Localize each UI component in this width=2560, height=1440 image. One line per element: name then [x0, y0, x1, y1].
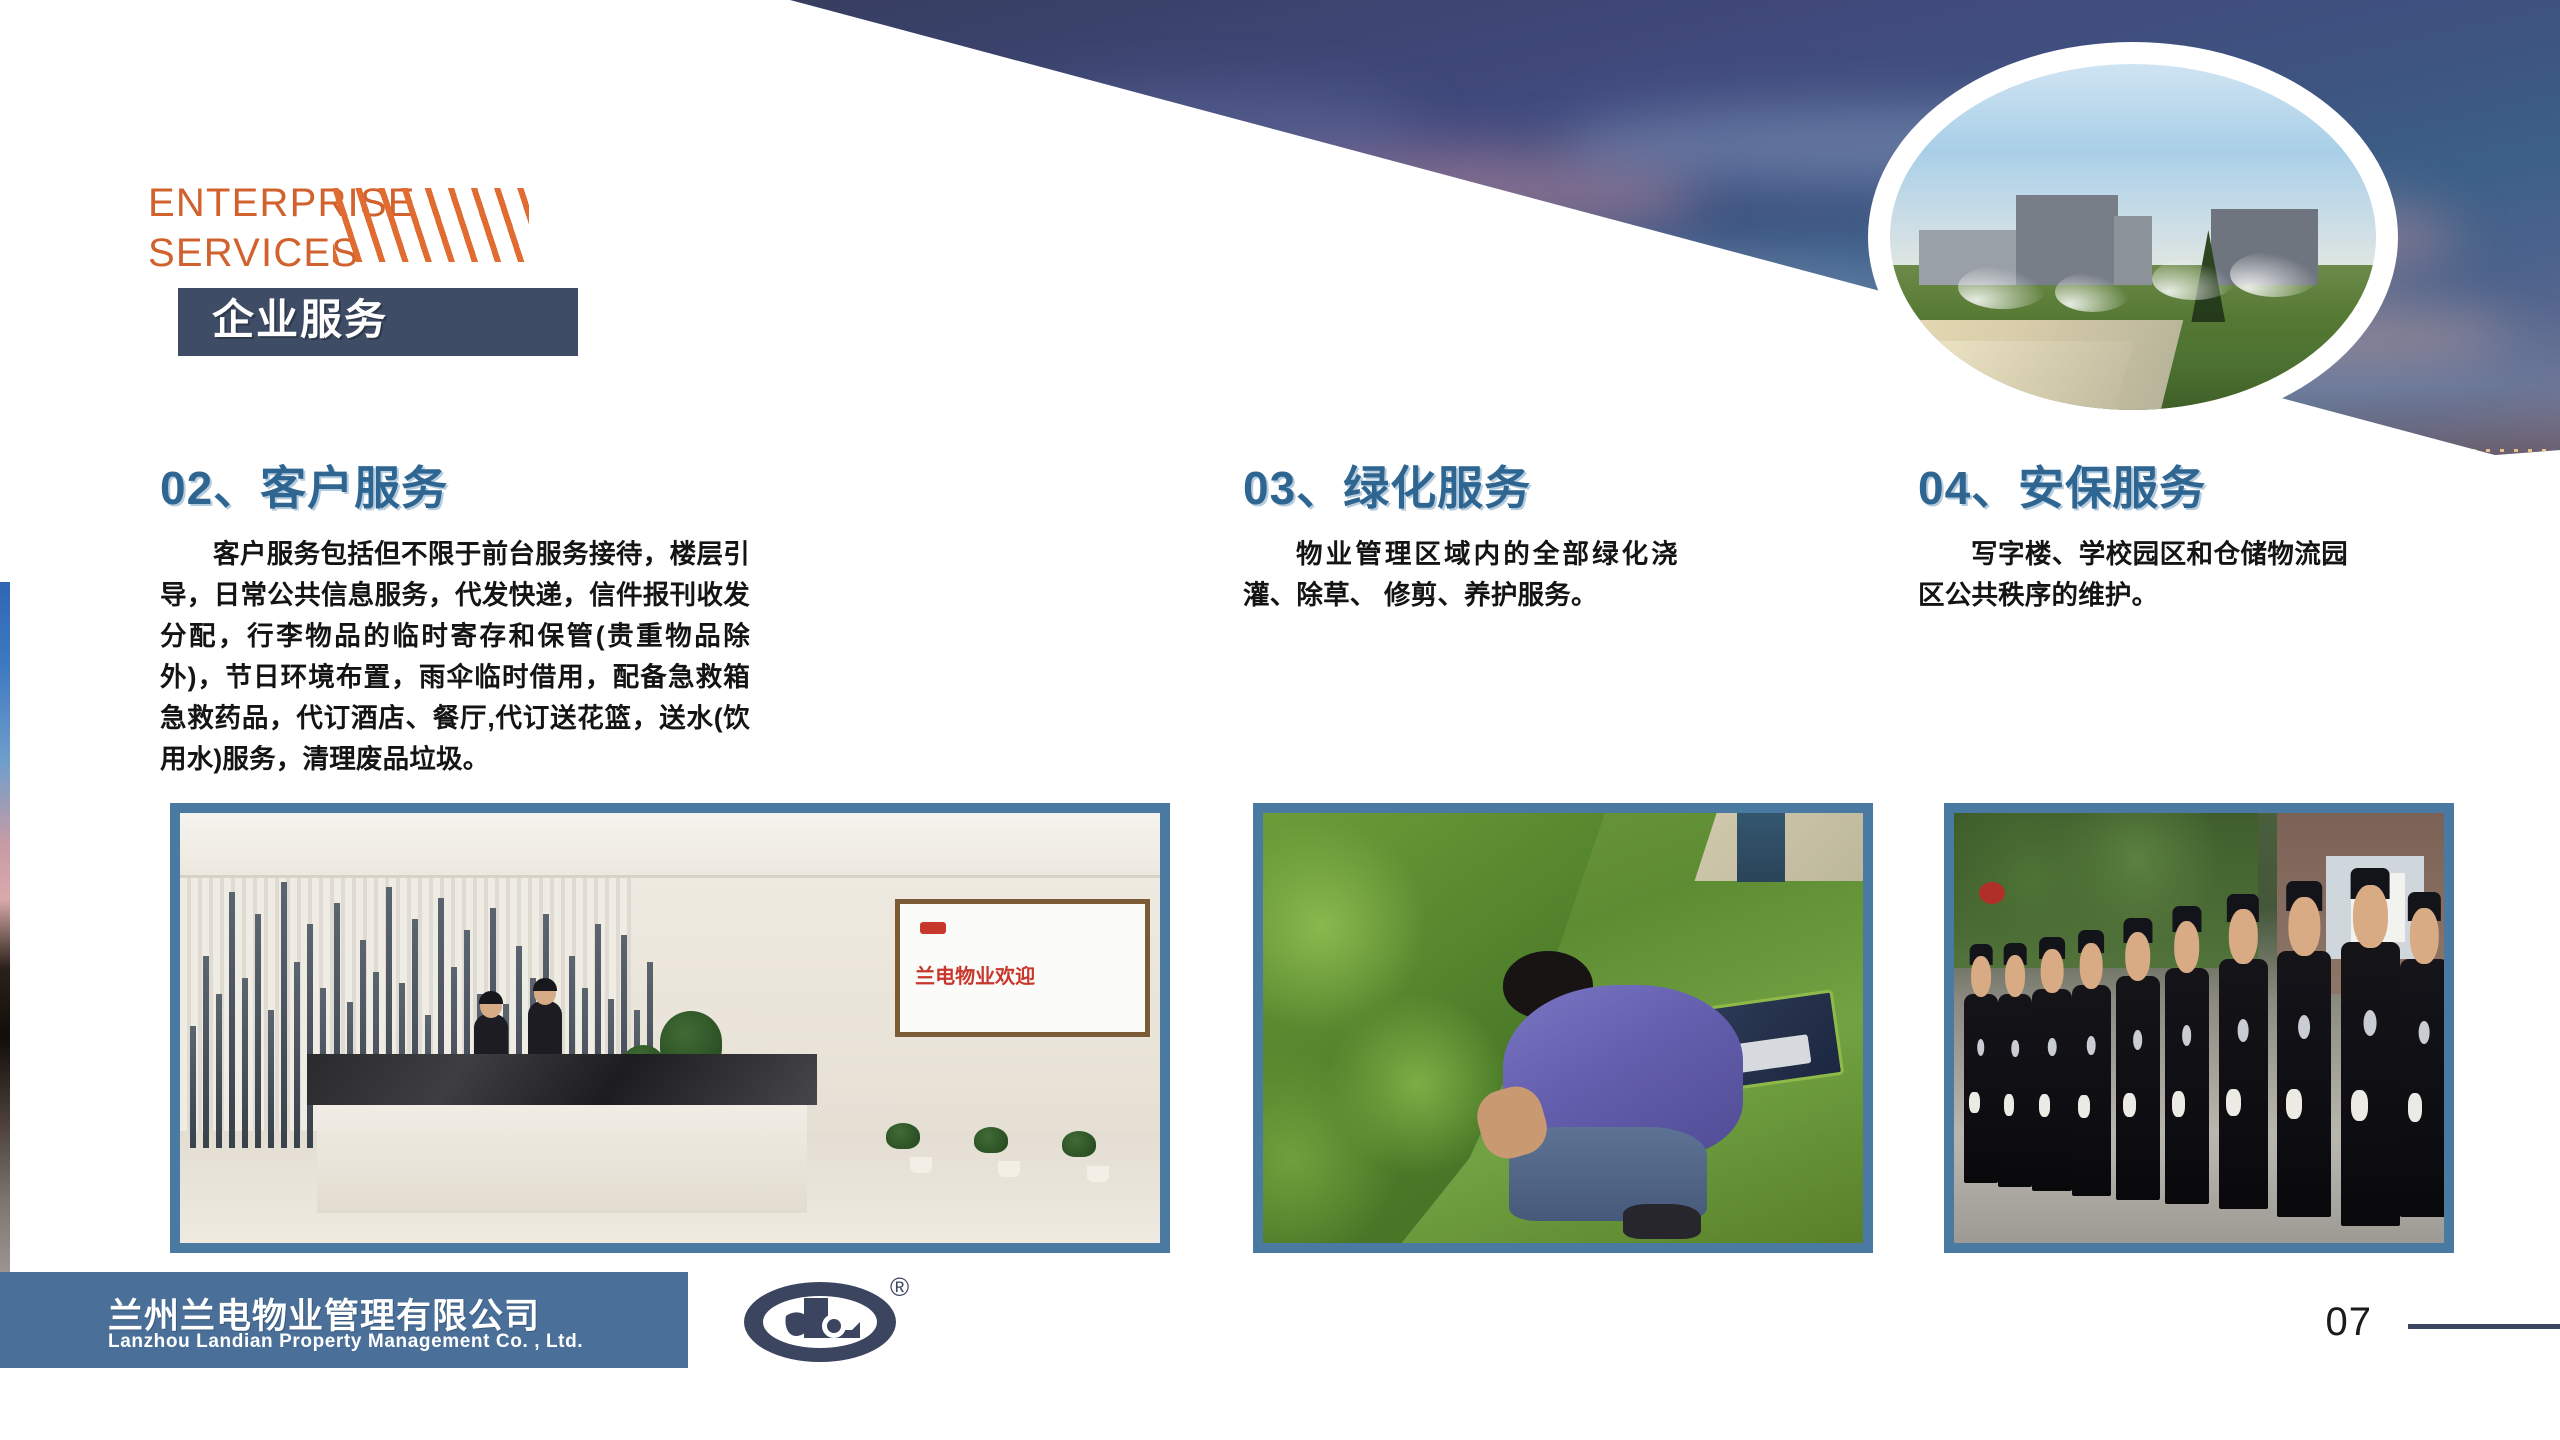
- guard-badge: [2011, 1040, 2019, 1057]
- guard-glove: [2286, 1089, 2302, 1118]
- section-title: 绿化服务: [1343, 462, 1531, 514]
- section-heading: 03、绿化服务: [1243, 452, 1678, 518]
- lobby-potted-plant: [886, 1123, 920, 1149]
- header-chinese-title: 企业服务: [212, 288, 388, 356]
- guard-glove: [1969, 1092, 1979, 1113]
- guard-head: [2041, 949, 2064, 993]
- guard-head: [2005, 955, 2025, 998]
- page-number-rule: [2408, 1324, 2560, 1329]
- guard-badge: [2238, 1019, 2249, 1041]
- security-guard: [1998, 994, 2032, 1188]
- lobby-rod: [268, 1010, 274, 1149]
- guard-badge: [1977, 1039, 1985, 1056]
- lobby-potted-plant: [1062, 1131, 1096, 1157]
- section-body-text: 客户服务包括但不限于前台服务接待，楼层引导，日常公共信息服务，代发快递，信件报刊…: [160, 534, 750, 780]
- lobby-plant-pot: [910, 1157, 932, 1173]
- guard-glove: [2226, 1089, 2241, 1116]
- worker-shoe: [1623, 1204, 1701, 1238]
- section-body-text: 写字楼、学校园区和仓储物流园区公共秩序的维护。: [1918, 534, 2348, 616]
- section-greening-service: 03、绿化服务 物业管理区域内的全部绿化浇灌、除草、 修剪、养护服务。: [1243, 452, 1678, 616]
- security-guard: [2341, 942, 2400, 1226]
- section-heading: 04、安保服务: [1918, 452, 2348, 518]
- section-number: 03、: [1243, 462, 1343, 514]
- registered-trademark-icon: ®: [890, 1272, 909, 1303]
- background-pedestrian: [1737, 813, 1785, 882]
- photo-card-gardening: [1253, 803, 1873, 1253]
- lobby-rod: [229, 892, 235, 1148]
- guard-glove: [2408, 1093, 2423, 1121]
- guard-glove: [2004, 1094, 2014, 1115]
- security-guard: [2219, 959, 2268, 1208]
- lobby-rod: [294, 962, 300, 1149]
- guard-head: [2080, 943, 2103, 989]
- guard-badge: [2182, 1025, 2192, 1046]
- guard-glove: [2172, 1091, 2185, 1117]
- photo-wet-pavement: [1890, 341, 2133, 410]
- guard-head: [2229, 909, 2257, 964]
- reception-counter-marble-top: [307, 1054, 817, 1106]
- lobby-ceiling: [180, 813, 1160, 878]
- gardening-maintenance-photo: [1263, 813, 1863, 1243]
- section-title: 客户服务: [260, 462, 448, 514]
- photo-card-security: [1944, 803, 2454, 1253]
- security-guard: [1964, 994, 1998, 1183]
- lobby-rod: [203, 956, 209, 1148]
- security-guard: [2072, 985, 2111, 1196]
- sprinkler-spray: [2055, 272, 2131, 312]
- company-name-english: Lanzhou Landian Property Management Co. …: [108, 1331, 583, 1353]
- section-heading: 02、客户服务: [160, 452, 750, 518]
- photo-card-reception: 兰电物业欢迎: [170, 803, 1170, 1253]
- lobby-rod: [307, 924, 313, 1148]
- security-guard: [2116, 976, 2160, 1200]
- section-number: 04、: [1918, 462, 2018, 514]
- guard-glove: [2039, 1094, 2051, 1116]
- sprinkler-spray: [2230, 251, 2320, 297]
- lobby-plant-pot: [998, 1161, 1020, 1177]
- section-customer-service: 02、客户服务 客户服务包括但不限于前台服务接待，楼层引导，日常公共信息服务，代…: [160, 452, 750, 780]
- campus-irrigation-photo: [1890, 64, 2376, 410]
- security-guard: [2277, 951, 2331, 1218]
- reception-counter-base: [317, 1101, 807, 1213]
- sprinkler-spray: [1958, 265, 2048, 309]
- guard-head: [2174, 921, 2200, 973]
- cloud-shape: [1000, 92, 1420, 156]
- security-guards-formation-photo: [1954, 813, 2444, 1243]
- slide-page: ENTERPRISE SERVICES 企业服务 02、客户服务 客户服务包括但…: [0, 0, 2560, 1440]
- section-security-service: 04、安保服务 写字楼、学校园区和仓储物流园区公共秩序的维护。: [1918, 452, 2348, 616]
- guard-badge: [2419, 1021, 2430, 1044]
- page-number: 07: [2326, 1300, 2373, 1345]
- guard-badge: [2048, 1038, 2057, 1056]
- guard-badge: [2133, 1030, 2143, 1050]
- guard-badge: [2087, 1036, 2096, 1055]
- reception-lobby-photo: 兰电物业欢迎: [180, 813, 1160, 1243]
- guard-head: [2353, 885, 2387, 947]
- security-guard: [2400, 959, 2444, 1217]
- red-lantern: [1979, 882, 2005, 904]
- lobby-plant-pot: [1087, 1166, 1109, 1182]
- sprinkler-spray: [2152, 258, 2236, 300]
- lobby-rod: [190, 1026, 196, 1149]
- security-guard: [2032, 989, 2071, 1191]
- guard-glove: [2078, 1095, 2090, 1118]
- lobby-rod: [255, 914, 261, 1149]
- security-guard: [2165, 968, 2209, 1205]
- diagonal-hatch-icon: [333, 188, 529, 262]
- lobby-rod: [216, 994, 222, 1149]
- screen-logo-icon: [920, 922, 946, 934]
- photo-building: [2114, 216, 2153, 285]
- guard-head: [1971, 956, 1991, 998]
- guard-head: [2125, 932, 2151, 981]
- guard-head: [2410, 908, 2438, 965]
- guard-glove: [2123, 1093, 2136, 1118]
- lobby-welcome-screen: 兰电物业欢迎: [895, 899, 1150, 1037]
- guard-glove: [2351, 1090, 2369, 1121]
- lobby-potted-plant: [974, 1127, 1008, 1153]
- left-edge-photo-strip: [0, 582, 10, 1272]
- bottom-white-edge: [0, 1430, 2560, 1440]
- section-body-text: 物业管理区域内的全部绿化浇灌、除草、 修剪、养护服务。: [1243, 534, 1678, 616]
- section-title: 安保服务: [2018, 462, 2206, 514]
- section-number: 02、: [160, 462, 260, 514]
- guard-badge: [2364, 1010, 2377, 1036]
- lobby-rod: [242, 978, 248, 1149]
- lobby-rod: [281, 882, 287, 1149]
- company-logo: ®: [742, 1270, 922, 1370]
- guard-badge: [2298, 1015, 2310, 1039]
- guard-head: [2289, 897, 2320, 956]
- screen-welcome-text: 兰电物业欢迎: [915, 960, 1035, 989]
